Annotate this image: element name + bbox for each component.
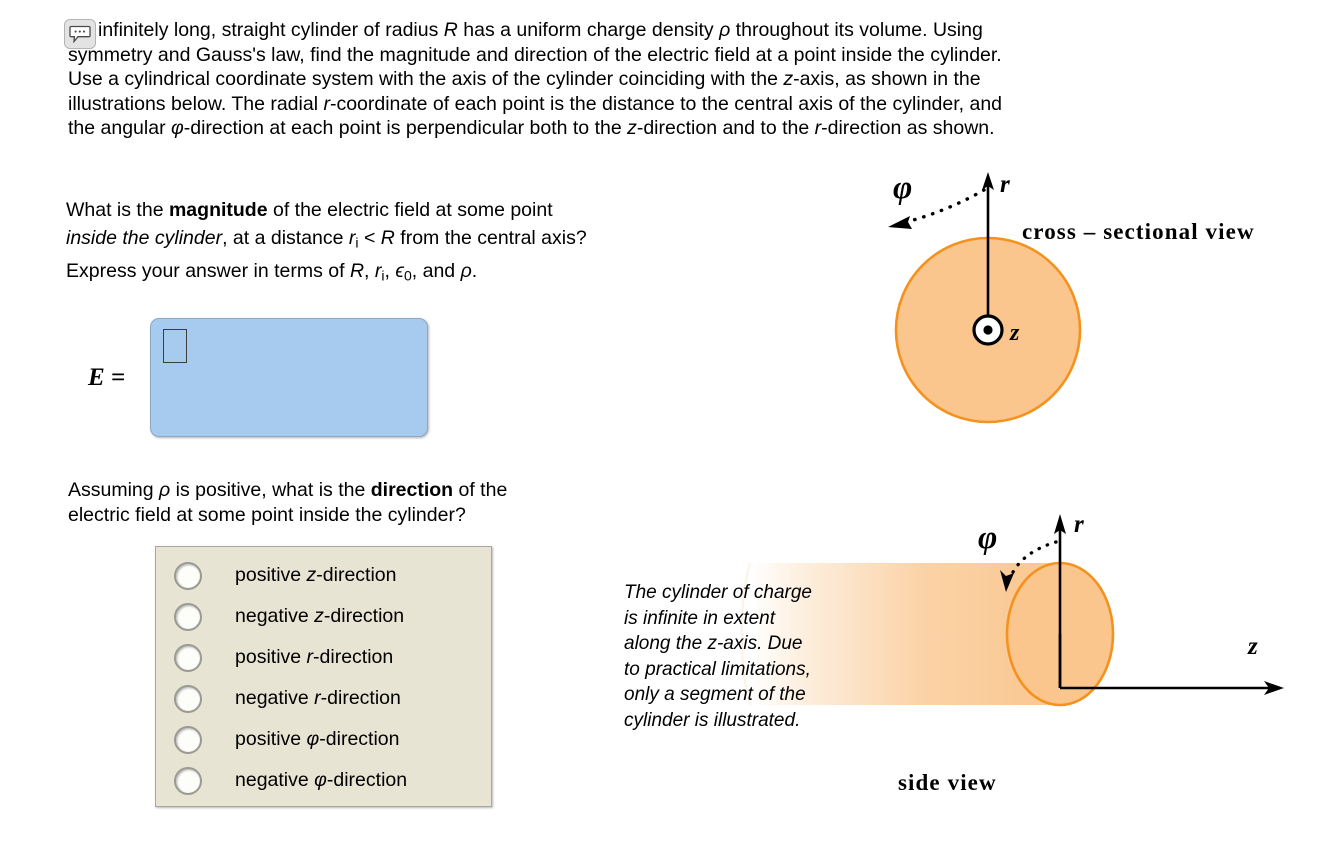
direction-question-line-2: electric field at some point inside the … — [68, 503, 668, 528]
phi-axis-label: φ — [978, 520, 997, 556]
comment-bubble-glyph — [69, 25, 91, 43]
phi-arrowhead — [888, 216, 912, 229]
side-view-caption: side view — [898, 770, 997, 796]
radio-button-icon[interactable] — [174, 644, 202, 672]
magnitude-question-line-2: inside the cylinder, at a distance ri < … — [66, 224, 706, 257]
answer-row: E = — [88, 318, 428, 437]
radio-option-negative-phi[interactable]: negative φ-direction — [156, 760, 491, 801]
cylinder-note-line-5: only a segment of the — [624, 682, 886, 708]
radio-button-icon[interactable] — [174, 726, 202, 754]
r-axis-label: r — [1074, 511, 1084, 538]
magnitude-question-line-1: What is the magnitude of the electric fi… — [66, 196, 706, 224]
radio-option-label: positive r-direction — [235, 646, 393, 669]
statement-line-4: illustrations below. The radial r-coordi… — [68, 92, 1318, 117]
cross-sectional-diagram: φ r z — [860, 160, 1326, 440]
cross-section-caption: cross – sectional view — [1022, 219, 1255, 245]
radio-option-label: negative z-direction — [235, 605, 404, 628]
comment-bubble-icon[interactable] — [64, 19, 96, 49]
radio-option-positive-r[interactable]: positive r-direction — [156, 637, 491, 678]
cylinder-note-line-1: The cylinder of charge — [624, 580, 886, 606]
cylinder-note-line-3: along the z-axis. Due — [624, 631, 886, 657]
radio-button-icon[interactable] — [174, 562, 202, 590]
answer-caret-placeholder[interactable] — [163, 329, 187, 363]
radio-button-icon[interactable] — [174, 767, 202, 795]
cylinder-note-text: The cylinder of charge is infinite in ex… — [624, 580, 886, 733]
cylinder-note-line-4: to practical limitations, — [624, 657, 886, 683]
radio-option-label: positive z-direction — [235, 564, 397, 587]
radio-option-negative-r[interactable]: negative r-direction — [156, 678, 491, 719]
statement-line-1: infinitely long, straight cylinder of ra… — [68, 18, 1318, 43]
direction-question: Assuming ρ is positive, what is the dire… — [68, 478, 668, 528]
z-axis-label: z — [1247, 633, 1258, 660]
radio-option-label: positive φ-direction — [235, 728, 399, 751]
radio-option-positive-z[interactable]: positive z-direction — [156, 555, 491, 596]
cylinder-note-line-2: is infinite in extent — [624, 606, 886, 632]
direction-options-panel: positive z-direction negative z-directio… — [155, 546, 492, 807]
radio-option-label: negative r-direction — [235, 687, 401, 710]
radio-option-negative-z[interactable]: negative z-direction — [156, 596, 491, 637]
z-out-of-page-dot — [983, 325, 992, 334]
express-answer-instruction: Express your answer in terms of R, ri, ϵ… — [66, 260, 706, 284]
radio-option-positive-phi[interactable]: positive φ-direction — [156, 719, 491, 760]
radio-button-icon[interactable] — [174, 685, 202, 713]
problem-statement: infinitely long, straight cylinder of ra… — [68, 18, 1318, 141]
radio-option-label: negative φ-direction — [235, 769, 407, 792]
radio-button-icon[interactable] — [174, 603, 202, 631]
statement-line-3: Use a cylindrical coordinate system with… — [68, 67, 1318, 92]
r-axis-label: r — [1000, 171, 1010, 198]
phi-dotted-arc — [906, 190, 984, 222]
direction-question-line-1: Assuming ρ is positive, what is the dire… — [68, 478, 668, 503]
phi-axis-label: φ — [893, 170, 912, 206]
magnitude-question: What is the magnitude of the electric fi… — [66, 196, 706, 257]
statement-line-2: symmetry and Gauss's law, find the magni… — [68, 43, 1318, 68]
answer-input[interactable] — [150, 318, 428, 437]
e-field-label: E = — [88, 364, 150, 392]
cylinder-note-line-6: cylinder is illustrated. — [624, 708, 886, 734]
z-axis-label: z — [1009, 320, 1020, 346]
statement-line-5: the angular φ-direction at each point is… — [68, 116, 1318, 141]
